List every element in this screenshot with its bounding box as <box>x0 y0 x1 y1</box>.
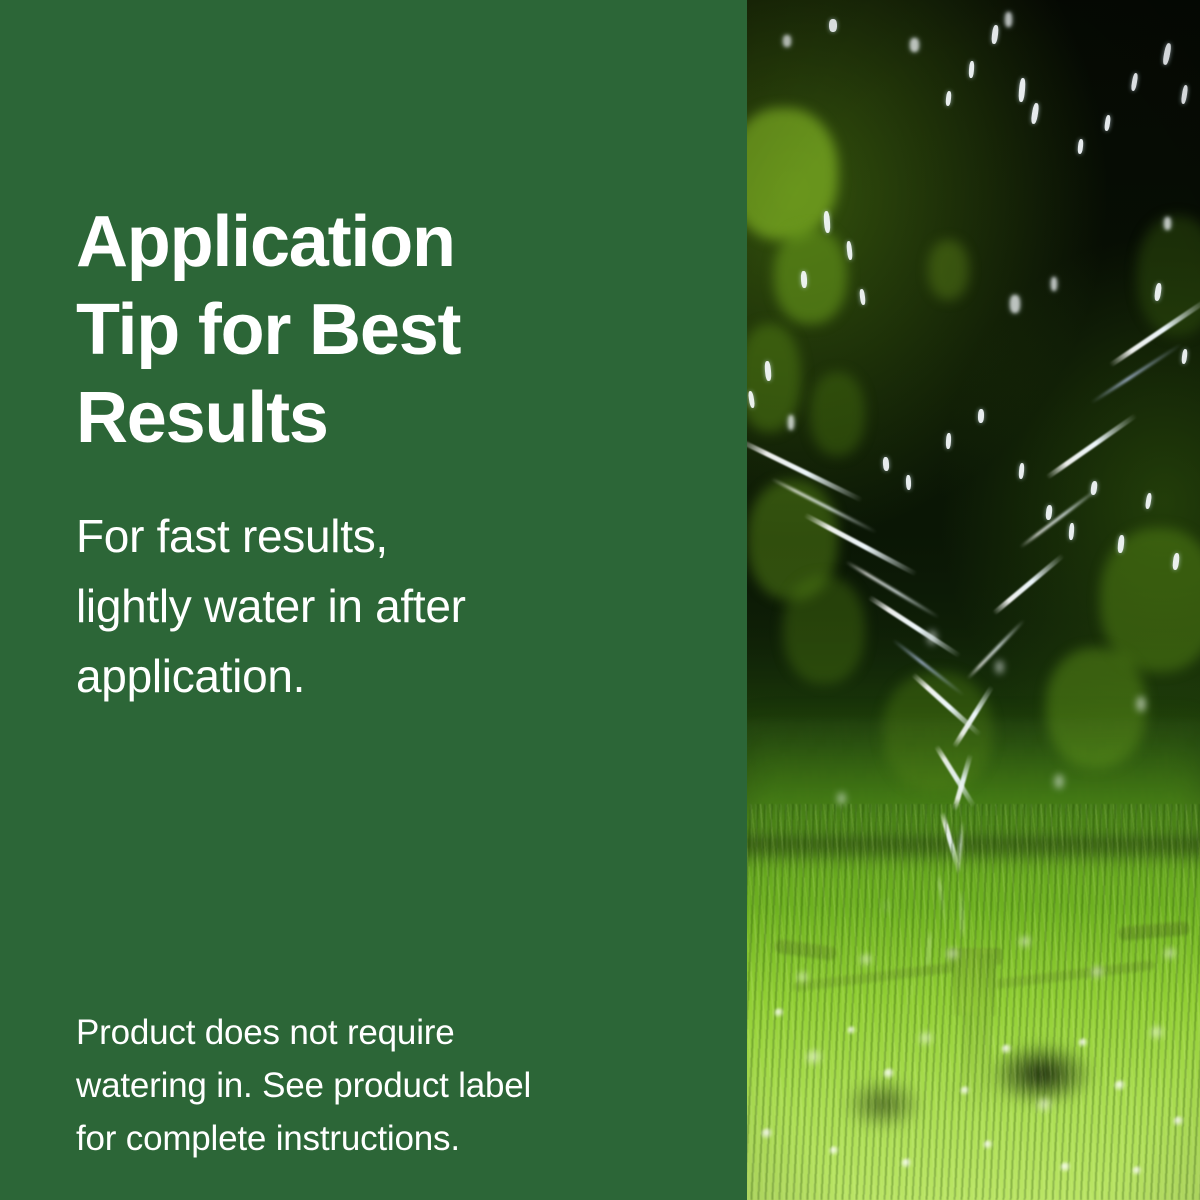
water-droplet-highlight <box>829 1146 840 1157</box>
water-droplet-highlight <box>1173 1116 1185 1128</box>
application-tip-poster: Application Tip for Best Results For fas… <box>0 0 1200 1200</box>
water-droplet-highlight <box>883 1068 896 1081</box>
water-droplet-highlight <box>1060 1162 1072 1174</box>
water-droplet-highlight <box>847 1026 857 1036</box>
water-droplet-highlight <box>919 1032 935 1048</box>
water-droplet-highlight <box>901 1158 913 1170</box>
page-title: Application Tip for Best Results <box>76 198 676 462</box>
water-droplet-highlight <box>1078 1038 1089 1049</box>
water-droplet-highlight <box>1164 948 1178 962</box>
water-droplet-highlight <box>960 1086 971 1097</box>
water-droplet-highlight <box>761 1128 774 1141</box>
water-droplet-highlight <box>1037 1098 1054 1115</box>
green-text-panel: Application Tip for Best Results For fas… <box>0 0 747 1200</box>
sprinkler-photo <box>747 0 1200 1200</box>
water-droplet-highlight <box>797 972 810 985</box>
water-droplet-highlight <box>806 1050 824 1068</box>
lead-paragraph: For fast results, lightly water in after… <box>76 501 716 711</box>
water-droplet-highlight <box>1001 1044 1013 1056</box>
water-droplet-highlight <box>983 1140 994 1151</box>
water-droplet-highlight <box>1019 936 1033 950</box>
foreground-grass-texture <box>747 804 1200 1200</box>
disclaimer-text: Product does not require watering in. Se… <box>76 1006 726 1165</box>
water-droplet-highlight <box>1114 1080 1127 1093</box>
